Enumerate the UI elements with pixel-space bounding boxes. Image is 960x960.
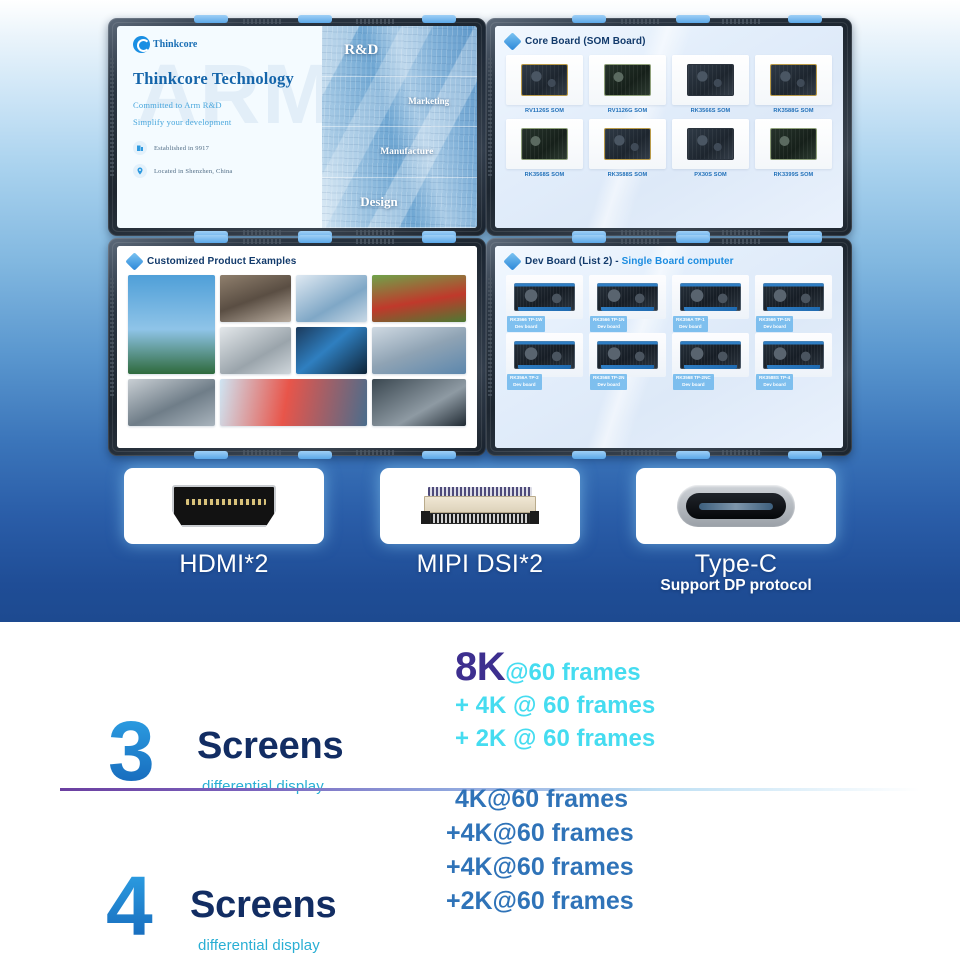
dev-board-header: Dev Board (List 2) - Single Board comput… xyxy=(506,255,832,268)
sbc-image xyxy=(597,341,657,368)
som-board-thumbnail xyxy=(589,119,666,169)
dev-board-kind: Dev board xyxy=(763,324,785,329)
dev-board-kind: Dev board xyxy=(763,382,785,387)
connector-label: MIPI DSI*2 xyxy=(417,550,544,579)
bezel-tab-icon xyxy=(422,15,456,23)
core-board-title: Core Board (SOM Board) xyxy=(525,36,646,47)
product-photo-lawnmower xyxy=(372,275,466,322)
diamond-bullet-icon xyxy=(503,32,521,50)
connector-label: HDMI*2 xyxy=(179,550,268,579)
pillar-label: Design xyxy=(360,194,398,210)
som-board-label: RK3588G SOM xyxy=(773,108,813,114)
mipi-housing xyxy=(424,496,536,513)
spec-right-4: 4K@60 frames +4K@60 frames +4K@60 frames… xyxy=(455,782,960,918)
dev-board-kind: Dev board xyxy=(597,382,619,387)
som-board-thumbnail xyxy=(589,55,666,105)
bezel-tab-icon xyxy=(422,451,456,459)
dev-board-thumbnail xyxy=(672,275,749,319)
som-board-thumbnail xyxy=(755,119,832,169)
som-board-cell[interactable]: PX30S SOM xyxy=(672,119,749,178)
spec-row-3-screens: 3 Screens differential display 8K@60 fra… xyxy=(0,622,960,766)
dev-board-cell[interactable]: RK356A TP-2Dev board xyxy=(506,333,583,377)
typec-cavity xyxy=(686,493,786,519)
pillar-cell: Manufacture xyxy=(322,127,477,178)
dev-board-cell[interactable]: RK3588S TP-4Dev board xyxy=(755,333,832,377)
screen-display: Core Board (SOM Board) RV1126S SOMRV1126… xyxy=(495,26,843,228)
som-board-cell[interactable]: RK3568S SOM xyxy=(506,119,583,178)
dev-board-cell[interactable]: RK3566 TP-1NDev board xyxy=(589,275,666,319)
resolution-primary: 8K@60 frames xyxy=(455,647,960,687)
mipi-latch-left xyxy=(421,511,430,524)
spec-right-3: 8K@60 frames + 4K @ 60 frames + 2K @ 60 … xyxy=(455,647,960,755)
dev-board-cell[interactable]: RK3566 TP-1WDev board xyxy=(506,275,583,319)
product-photo-kiosk xyxy=(220,275,291,322)
core-board-header: Core Board (SOM Board) xyxy=(506,35,832,48)
connector-type-c[interactable]: Type-C Support DP protocol xyxy=(636,468,836,595)
diamond-bullet-icon xyxy=(125,252,143,270)
screen-count-number: 3 xyxy=(108,709,155,793)
dev-board-thumbnail xyxy=(672,333,749,377)
som-board-thumbnail xyxy=(506,119,583,169)
pillar-label: Marketing xyxy=(408,96,449,106)
pillar-label: R&D xyxy=(344,42,378,59)
resolution-line: +4K@60 frames xyxy=(446,850,960,884)
dev-board-kind: Dev board xyxy=(513,382,535,387)
bezel-vent-icon xyxy=(356,239,396,244)
resolution-line: 4K@60 frames xyxy=(455,782,960,816)
dev-board-cell[interactable]: RK3568 TP-2NDev board xyxy=(589,333,666,377)
dev-board-thumbnail xyxy=(755,275,832,319)
som-board-cell[interactable]: RV1126G SOM xyxy=(589,55,666,114)
monitor-dev-board[interactable]: Dev Board (List 2) - Single Board comput… xyxy=(486,238,852,456)
som-board-grid: RV1126S SOMRV1126G SOMRK3566S SOMRK3588G… xyxy=(506,55,832,178)
diamond-bullet-icon xyxy=(503,252,521,270)
sbc-image xyxy=(514,341,574,368)
customized-products-slide: Customized Product Examples xyxy=(117,246,477,448)
screen-display: Dev Board (List 2) - Single Board comput… xyxy=(495,246,843,448)
connector-mipi-dsi[interactable]: MIPI DSI*2 xyxy=(380,468,580,595)
dev-board-grid: RK3566 TP-1WDev boardRK3566 TP-1NDev boa… xyxy=(506,275,832,377)
monitor-core-board[interactable]: Core Board (SOM Board) RV1126S SOMRV1126… xyxy=(486,18,852,236)
mipi-pin-row-top xyxy=(428,487,532,496)
mipi-pin-row-bottom xyxy=(430,513,530,524)
mipi-dsi-connector-icon xyxy=(420,485,540,527)
dev-board-cell[interactable]: RK3568 TP-2NCDev board xyxy=(672,333,749,377)
bezel-vent-icon xyxy=(621,450,661,455)
sbc-image xyxy=(763,283,823,310)
dev-board-model: RK3566 TP-1W xyxy=(510,317,542,322)
som-board-thumbnail xyxy=(672,119,749,169)
dev-board-badge: RK3566 TP-1NDev board xyxy=(590,316,627,332)
dev-board-cell[interactable]: RK3566 TP-1NDev board xyxy=(755,275,832,319)
dev-board-thumbnail xyxy=(589,275,666,319)
product-photo-turnstile xyxy=(220,327,291,374)
spec-section: 3 Screens differential display 8K@60 fra… xyxy=(0,622,960,960)
company-tagline-2: Simplify your development xyxy=(133,117,322,127)
pcb-image xyxy=(604,128,652,160)
som-board-thumbnail xyxy=(672,55,749,105)
bezel-vent-icon xyxy=(356,19,396,24)
bezel-vent-icon xyxy=(356,230,396,235)
resolution-extra-line: + 4K @ 60 frames xyxy=(455,689,960,722)
resolution-extra-line: + 2K @ 60 frames xyxy=(455,722,960,755)
bezel-tab-icon xyxy=(676,15,710,23)
bezel-tab-icon xyxy=(194,15,228,23)
pcb-image xyxy=(521,64,569,96)
products-header: Customized Product Examples xyxy=(128,255,466,268)
core-board-slide: Core Board (SOM Board) RV1126S SOMRV1126… xyxy=(495,26,843,228)
fact-location-text: Located in Shenzhen, China xyxy=(154,168,232,175)
som-board-cell[interactable]: RK3566S SOM xyxy=(672,55,749,114)
resolution-8k-frames: @60 frames xyxy=(505,659,640,686)
resolution-8k: 8K xyxy=(455,645,505,689)
bezel-tab-icon xyxy=(788,15,822,23)
bezel-tab-icon xyxy=(676,451,710,459)
sbc-image xyxy=(597,283,657,310)
fact-location: Located in Shenzhen, China xyxy=(133,164,322,178)
thinkcore-logo-text: Thinkcore xyxy=(153,39,197,50)
dev-board-title-dash: - xyxy=(612,256,621,267)
pillar-cell: Marketing xyxy=(322,77,477,128)
product-photo-cctv xyxy=(372,327,466,374)
bezel-tab-icon xyxy=(572,235,606,243)
map-pin-icon xyxy=(133,164,147,178)
dev-board-model: RK3568 TP-2N xyxy=(593,375,624,380)
dev-board-model: RK3566 TP-1N xyxy=(759,317,790,322)
dev-board-thumbnail xyxy=(755,333,832,377)
mipi-latch-right xyxy=(530,511,539,524)
bezel-tab-icon xyxy=(298,15,332,23)
bezel-side-vent-icon xyxy=(110,278,114,398)
som-board-cell[interactable]: RK3399S SOM xyxy=(755,119,832,178)
screens-subtitle: differential display xyxy=(202,778,324,795)
building-icon xyxy=(133,141,147,155)
bezel-tab-icon xyxy=(194,451,228,459)
bezel-side-vent-icon xyxy=(488,278,492,398)
bezel-side-vent-icon xyxy=(110,58,114,178)
pillar-label: Manufacture xyxy=(380,147,433,157)
screens-word: Screens xyxy=(197,725,343,768)
fact-established: Established in 9917 xyxy=(133,141,322,155)
bezel-vent-icon xyxy=(722,19,762,24)
bezel-vent-icon xyxy=(621,230,661,235)
monitor-company-intro[interactable]: ARM Thinkcore Thinkcore Technology Commi… xyxy=(108,18,486,236)
product-photo-grid xyxy=(128,275,466,431)
bezel-vent-icon xyxy=(722,230,762,235)
dev-board-slide: Dev Board (List 2) - Single Board comput… xyxy=(495,246,843,448)
pcb-image xyxy=(521,128,569,160)
screen-count-number: 4 xyxy=(106,864,153,948)
bezel-vent-icon xyxy=(243,450,283,455)
thinkcore-logo-mark-icon xyxy=(133,36,150,53)
company-building-photo: R&D Marketing Manufacture Design xyxy=(322,26,477,228)
dev-board-kind: Dev board xyxy=(515,324,537,329)
som-board-cell[interactable]: RV1126S SOM xyxy=(506,55,583,114)
bezel-tab-icon xyxy=(422,235,456,243)
som-board-label: RK3588S SOM xyxy=(608,172,648,178)
pillar-overlay-grid: R&D Marketing Manufacture Design xyxy=(322,26,477,228)
dev-board-title-main: Dev Board (List 2) xyxy=(525,256,612,267)
pcb-image xyxy=(687,64,735,96)
company-intro-slide: ARM Thinkcore Thinkcore Technology Commi… xyxy=(117,26,477,228)
dev-board-badge: RK356A TP-1Dev board xyxy=(673,316,708,332)
pcb-image xyxy=(770,64,818,96)
monitor-grid: ARM Thinkcore Thinkcore Technology Commi… xyxy=(108,18,852,458)
som-board-label: RV1126S SOM xyxy=(525,108,564,114)
sbc-image xyxy=(680,341,740,368)
product-photo-drone xyxy=(128,275,215,374)
monitor-customized-products[interactable]: Customized Product Examples xyxy=(108,238,486,456)
thinkcore-logo: Thinkcore xyxy=(133,36,322,53)
som-board-thumbnail xyxy=(506,55,583,105)
bezel-tab-icon xyxy=(676,235,710,243)
som-board-label: RK3399S SOM xyxy=(774,172,814,178)
connector-row: HDMI*2 MIPI DSI*2 Type-C Suppo xyxy=(0,468,960,595)
product-photo-control-room xyxy=(296,327,367,374)
hero-section: ARM Thinkcore Thinkcore Technology Commi… xyxy=(0,0,960,622)
connector-card[interactable] xyxy=(380,468,580,544)
company-tagline-1: Committed to Arm R&D xyxy=(133,100,322,110)
bezel-tab-icon xyxy=(788,235,822,243)
dev-board-model: RK356A TP-2 xyxy=(510,375,539,380)
screens-subtitle: differential display xyxy=(198,937,320,954)
bezel-side-vent-icon xyxy=(488,58,492,178)
connector-sublabel: Support DP protocol xyxy=(660,577,811,595)
connector-card[interactable] xyxy=(124,468,324,544)
sbc-image xyxy=(763,341,823,368)
dev-board-badge: RK356A TP-2Dev board xyxy=(507,374,542,390)
dev-board-badge: RK3566 TP-1WDev board xyxy=(507,316,545,332)
screens-word: Screens xyxy=(190,884,336,927)
dev-board-thumbnail xyxy=(506,333,583,377)
dev-board-badge: RK3568 TP-2NCDev board xyxy=(673,374,714,390)
pcb-image xyxy=(770,128,818,160)
bezel-tab-icon xyxy=(572,15,606,23)
som-board-thumbnail xyxy=(755,55,832,105)
dev-board-title-accent: Single Board computer xyxy=(622,256,734,267)
bezel-vent-icon xyxy=(243,230,283,235)
dev-board-thumbnail xyxy=(589,333,666,377)
bezel-vent-icon xyxy=(722,239,762,244)
dev-board-model: RK356A TP-1 xyxy=(676,317,705,322)
connector-label: Type-C xyxy=(695,550,777,579)
dev-board-kind: Dev board xyxy=(682,382,704,387)
som-board-label: RV1126G SOM xyxy=(608,108,648,114)
bezel-vent-icon xyxy=(243,239,283,244)
som-board-label: RK3568S SOM xyxy=(525,172,565,178)
product-photo-pos-terminal xyxy=(372,379,466,426)
hdmi-port-icon xyxy=(172,485,276,527)
pillar-cell: R&D xyxy=(322,26,477,77)
dev-board-model: RK3568 TP-2NC xyxy=(676,375,711,380)
bezel-tab-icon xyxy=(298,235,332,243)
bezel-vent-icon xyxy=(621,19,661,24)
products-title: Customized Product Examples xyxy=(147,256,296,267)
company-facts: Established in 9917 Located in Shenzhen,… xyxy=(133,141,322,178)
connector-hdmi[interactable]: HDMI*2 xyxy=(124,468,324,595)
bezel-vent-icon xyxy=(722,450,762,455)
som-board-cell[interactable]: RK3588S SOM xyxy=(589,119,666,178)
bezel-tab-icon xyxy=(788,451,822,459)
dev-board-model: RK3566 TP-1N xyxy=(593,317,624,322)
pcb-image xyxy=(604,64,652,96)
fact-established-text: Established in 9917 xyxy=(154,145,209,152)
screen-display: ARM Thinkcore Thinkcore Technology Commi… xyxy=(117,26,477,228)
company-title: Thinkcore Technology xyxy=(133,69,322,89)
dev-board-kind: Dev board xyxy=(597,324,619,329)
resolution-line: +2K@60 frames xyxy=(446,884,960,918)
resolution-line: +4K@60 frames xyxy=(446,816,960,850)
bezel-vent-icon xyxy=(621,239,661,244)
usb-type-c-port-icon xyxy=(677,485,795,527)
product-photo-face-recognition xyxy=(220,379,367,426)
bezel-tab-icon xyxy=(298,451,332,459)
dev-board-badge: RK3568 TP-2NDev board xyxy=(590,374,627,390)
connector-card[interactable] xyxy=(636,468,836,544)
dev-board-title: Dev Board (List 2) - Single Board comput… xyxy=(525,256,734,267)
dev-board-badge: RK3566 TP-1NDev board xyxy=(756,316,793,332)
bezel-tab-icon xyxy=(572,451,606,459)
company-intro-text: ARM Thinkcore Thinkcore Technology Commi… xyxy=(117,26,322,228)
pillar-cell: Design xyxy=(322,178,477,229)
pcb-image xyxy=(687,128,735,160)
bezel-vent-icon xyxy=(243,19,283,24)
product-photo-tablet xyxy=(296,275,367,322)
dev-board-thumbnail xyxy=(506,275,583,319)
som-board-cell[interactable]: RK3588G SOM xyxy=(755,55,832,114)
screen-display: Customized Product Examples xyxy=(117,246,477,448)
bezel-tab-icon xyxy=(194,235,228,243)
sbc-image xyxy=(514,283,574,310)
dev-board-badge: RK3588S TP-4Dev board xyxy=(756,374,793,390)
dev-board-cell[interactable]: RK356A TP-1Dev board xyxy=(672,275,749,319)
dev-board-model: RK3588S TP-4 xyxy=(759,375,790,380)
product-photo-meeting-room xyxy=(128,379,215,426)
sbc-image xyxy=(680,283,740,310)
som-board-label: RK3566S SOM xyxy=(691,108,731,114)
dev-board-kind: Dev board xyxy=(679,324,701,329)
bezel-vent-icon xyxy=(356,450,396,455)
som-board-label: PX30S SOM xyxy=(694,172,727,178)
